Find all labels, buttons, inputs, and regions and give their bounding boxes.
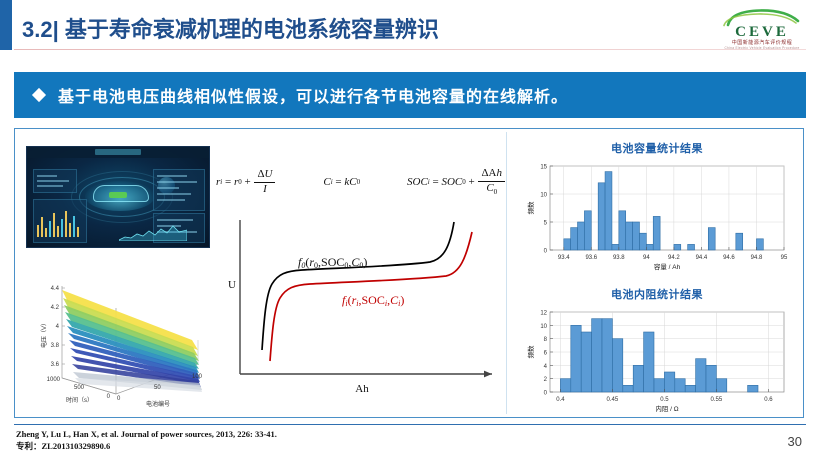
svg-text:0: 0 — [544, 249, 548, 255]
dashboard-title-placeholder — [95, 149, 141, 155]
formula-row: ri = r0 + ΔUI Ci = kC0 SOCi = SOC0 + ΔAh… — [216, 162, 506, 202]
page-title-separator: | — [53, 17, 59, 42]
svg-text:0.55: 0.55 — [711, 397, 723, 403]
curve-xlabel: Ah — [355, 383, 369, 395]
svg-text:10: 10 — [540, 193, 547, 199]
svg-text:1000: 1000 — [47, 377, 61, 383]
svg-text:频数: 频数 — [526, 201, 535, 215]
voltage-surface-plot: 4.4 4.2 4 3.8 3.6 1000 500 0 0 50 100 — [20, 268, 212, 408]
svg-text:4.4: 4.4 — [51, 286, 60, 292]
dashboard-kv-3 — [37, 185, 63, 187]
svg-text:94.8: 94.8 — [751, 255, 763, 261]
svg-text:93.8: 93.8 — [613, 255, 625, 261]
svg-text:4: 4 — [544, 364, 548, 370]
title-divider — [14, 49, 806, 50]
svg-text:8: 8 — [544, 337, 548, 343]
svg-text:93.6: 93.6 — [585, 255, 597, 261]
svg-text:94.2: 94.2 — [668, 255, 680, 261]
svg-text:94: 94 — [643, 255, 650, 261]
slide-root: 3.2| 基于寿命衰减机理的电池系统容量辨识 CEVE 中国新能源汽车评价规程 … — [0, 0, 820, 461]
svg-text:0: 0 — [107, 394, 111, 400]
page-title: 3.2| 基于寿命衰减机理的电池系统容量辨识 — [22, 12, 439, 44]
surface-zlabel: 电压（V） — [40, 320, 48, 348]
svg-text:0: 0 — [117, 396, 121, 402]
footer-patent: 专利：ZL201310329890.6 — [16, 440, 277, 452]
svg-text:3.6: 3.6 — [51, 362, 60, 368]
capacity-histogram-plot: 05101593.493.693.89494.294.494.694.895容量… — [516, 158, 798, 276]
key-point-banner: 基于电池电压曲线相似性假设，可以进行各节电池容量的在线解析。 — [14, 72, 806, 118]
formula-resistance: ri = r0 + ΔUI — [216, 168, 276, 197]
svg-text:2: 2 — [544, 377, 548, 383]
surface-plot-svg: 4.4 4.2 4 3.8 3.6 1000 500 0 0 50 100 — [20, 268, 212, 408]
formula-capacity: Ci = kC0 — [323, 176, 360, 188]
svg-text:100: 100 — [192, 374, 203, 380]
svg-text:94.6: 94.6 — [723, 255, 735, 261]
svg-text:0.4: 0.4 — [556, 397, 565, 403]
dashboard-kv-1 — [37, 175, 57, 177]
svg-text:500: 500 — [74, 385, 85, 391]
content-vertical-divider — [506, 132, 507, 414]
svg-text:15: 15 — [540, 165, 547, 171]
curve-label-f0: f0(r0,SOC0,C0) — [298, 255, 367, 270]
surface-ylabel: 电池编号 — [146, 400, 170, 408]
banner-text: 基于电池电压曲线相似性假设，可以进行各节电池容量的在线解析。 — [58, 83, 568, 107]
logo-chinese-name: 中国新能源汽车评价规程 — [714, 39, 810, 46]
dashboard-kv-8 — [157, 199, 185, 201]
resistance-histogram-plot: 0246810120.40.450.50.550.6内阻 / Ω频数 — [516, 304, 798, 418]
logo-english-name: China Electric Vehicle Evaluation Proced… — [714, 46, 810, 50]
svg-text:10: 10 — [540, 324, 547, 330]
svg-text:5: 5 — [544, 221, 548, 227]
svg-text:0.5: 0.5 — [660, 397, 669, 403]
resistance-histogram-svg: 0246810120.40.450.50.550.6内阻 / Ω频数 — [516, 304, 798, 418]
page-number: 30 — [788, 434, 802, 449]
svg-text:0: 0 — [544, 391, 548, 397]
capacity-histogram-panel: 电池容量统计结果 05101593.493.693.89494.294.494.… — [516, 140, 798, 280]
svg-text:94.4: 94.4 — [696, 255, 708, 261]
resistance-histogram-panel: 电池内阻统计结果 0246810120.40.450.50.550.6内阻 / … — [516, 286, 798, 418]
page-title-number: 3.2 — [22, 17, 53, 42]
svg-text:4: 4 — [56, 324, 60, 330]
svg-text:4.2: 4.2 — [51, 305, 60, 311]
svg-text:内阻 / Ω: 内阻 / Ω — [655, 404, 678, 413]
svg-text:0.45: 0.45 — [607, 397, 619, 403]
dashboard-kv-6 — [157, 187, 179, 189]
svg-text:0.6: 0.6 — [764, 397, 773, 403]
dashboard-kv-5 — [157, 181, 197, 183]
dashboard-area-chart — [119, 223, 187, 241]
curve-chart-svg: U Ah f0(r0,SOC0,C0) fi(ri,SOCi,Ci) — [216, 216, 506, 406]
svg-text:12: 12 — [540, 311, 547, 317]
svg-text:频数: 频数 — [526, 345, 535, 359]
dashboard-battery-pack-icon — [109, 192, 127, 198]
svg-text:50: 50 — [154, 385, 161, 391]
svg-text:95: 95 — [781, 255, 788, 261]
curve-label-fi: fi(ri,SOCi,Ci) — [342, 293, 404, 308]
svg-text:3.8: 3.8 — [51, 343, 60, 349]
voltage-capacity-curve-chart: U Ah f0(r0,SOC0,C0) fi(ri,SOCi,Ci) — [216, 216, 506, 406]
dashboard-kv-2 — [37, 180, 69, 182]
dashboard-kv-9 — [157, 219, 193, 221]
capacity-histogram-svg: 05101593.493.693.89494.294.494.694.895容量… — [516, 158, 798, 276]
capacity-histogram-title: 电池容量统计结果 — [516, 140, 798, 156]
curve-ylabel: U — [228, 279, 236, 291]
dashboard-kv-7 — [157, 193, 191, 195]
surface-xlabel: 时间（s） — [66, 396, 93, 404]
ceve-logo: CEVE 中国新能源汽车评价规程 China Electric Vehicle … — [714, 8, 810, 52]
title-accent-bar — [0, 0, 12, 50]
formula-soc: SOCi = SOC0 + ΔAhC0 — [407, 167, 506, 197]
bms-dashboard-image — [26, 146, 210, 248]
svg-text:容量 / Ah: 容量 / Ah — [654, 262, 681, 271]
dashboard-bar-chart — [37, 207, 81, 237]
dashboard-kv-4 — [157, 175, 187, 177]
diamond-bullet-icon — [32, 88, 46, 102]
footer-reference: Zheng Y, Lu L, Han X, et al. Journal of … — [16, 428, 277, 440]
footer-divider — [14, 424, 806, 425]
footer-citation: Zheng Y, Lu L, Han X, et al. Journal of … — [16, 428, 277, 453]
resistance-histogram-title: 电池内阻统计结果 — [516, 286, 798, 302]
svg-text:6: 6 — [544, 351, 548, 357]
page-title-text: 基于寿命衰减机理的电池系统容量辨识 — [65, 17, 439, 42]
svg-text:93.4: 93.4 — [558, 255, 570, 261]
